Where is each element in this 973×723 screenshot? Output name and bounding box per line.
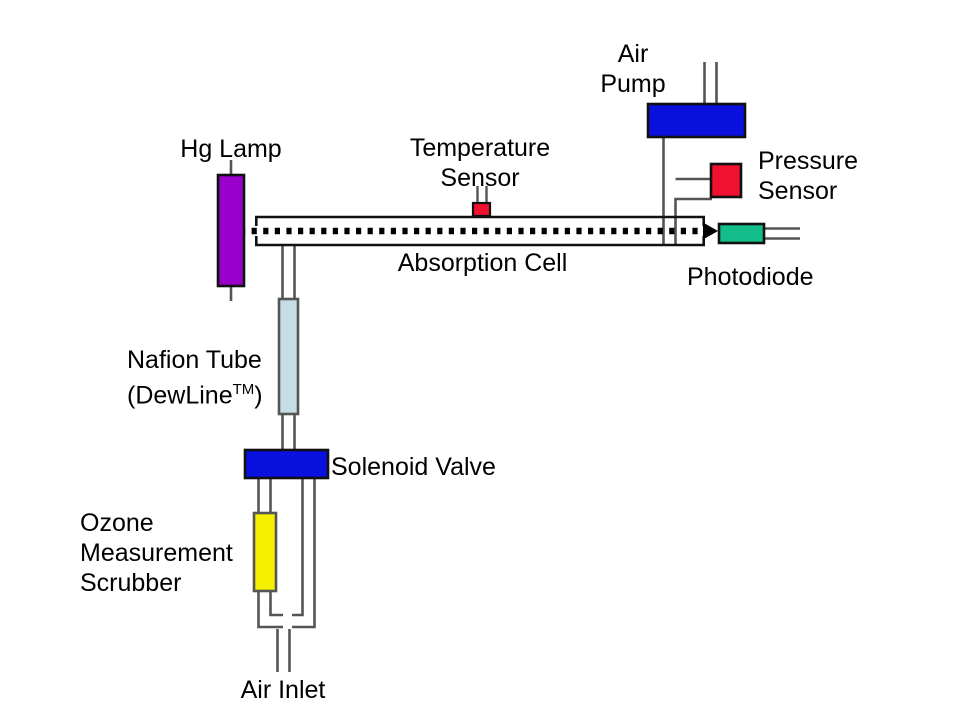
nafion-tube-label-suffix: ) <box>254 381 262 409</box>
solenoid-valve-body <box>245 450 328 478</box>
photodiode-component <box>719 224 800 243</box>
hg-lamp-body <box>218 175 244 286</box>
tube-cell-to-pump-right <box>676 199 713 245</box>
diagram-canvas: Hg Lamp Temperature Sensor Air Pump Pres… <box>0 0 973 723</box>
nafion-tube-label-prefix: (DewLine <box>127 381 233 409</box>
ozone-scrubber-label: Ozone Measurement Scrubber <box>80 508 310 598</box>
absorption-cell-label: Absorption Cell <box>385 248 580 278</box>
temperature-sensor-body <box>473 203 490 216</box>
uv-light-beam <box>240 223 718 240</box>
photodiode-label: Photodiode <box>687 262 887 292</box>
pressure-sensor-label: Pressure Sensor <box>758 146 968 206</box>
pressure-sensor-body <box>711 164 741 197</box>
beam-arrowhead <box>703 223 718 240</box>
hg-lamp-label: Hg Lamp <box>136 134 326 164</box>
temperature-sensor-label: Temperature Sensor <box>380 133 580 193</box>
photodiode-body <box>719 224 764 243</box>
hg-lamp-component <box>218 160 244 301</box>
solenoid-valve-label: Solenoid Valve <box>331 452 591 482</box>
trademark-symbol: TM <box>233 381 255 398</box>
nafion-tube-label-line2: (DewLineTM) <box>127 375 347 410</box>
nafion-tube-label-line1: Nafion Tube <box>127 345 327 375</box>
air-pump-body <box>648 104 745 137</box>
air-inlet-label: Air Inlet <box>188 675 378 705</box>
air-pump-label: Air Pump <box>578 39 688 99</box>
